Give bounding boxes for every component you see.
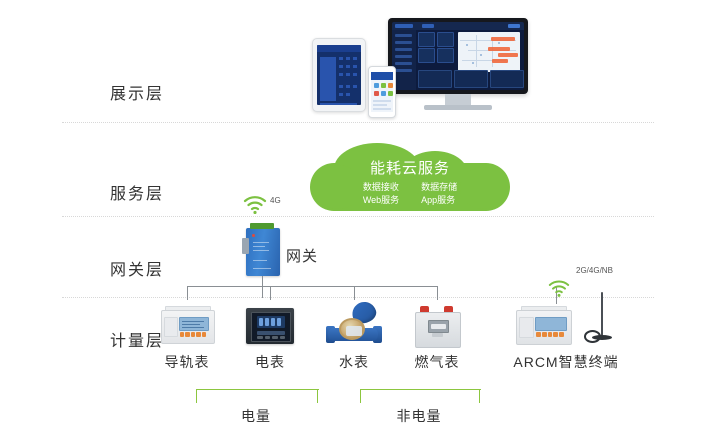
tablet-screen-header xyxy=(317,45,361,52)
meter-bus-wire xyxy=(187,286,437,287)
monitor-stand-neck xyxy=(445,94,471,105)
tablet-device xyxy=(312,38,366,112)
meter-branch-wire-3 xyxy=(354,286,355,300)
monitor-stand-base xyxy=(424,105,492,110)
cloud-feature-list: 数据接收 Web服务 数据存储 App服务 xyxy=(310,181,510,207)
layer-label-service: 服务层 xyxy=(110,180,164,204)
monitor-bezel xyxy=(388,18,528,94)
terminal-network-label: 2G/4G/NB xyxy=(576,266,613,275)
phone-screen xyxy=(371,72,393,112)
water-meter-icon xyxy=(326,304,382,346)
din-rail-meter-icon xyxy=(161,306,213,346)
tablet-screen xyxy=(317,45,361,105)
cloud-feature-group-left: 数据接收 Web服务 xyxy=(363,181,399,207)
layer-label-display: 展示层 xyxy=(110,80,164,104)
group-bracket-non-electricity xyxy=(360,390,480,403)
monitor-device xyxy=(388,18,528,110)
gateway-drop-wire xyxy=(262,276,263,298)
architecture-diagram: 展示层 服务层 网关层 计量层 xyxy=(0,0,715,443)
meter-label-gas: 燃气表 xyxy=(382,352,492,372)
meter-branch-wire-4 xyxy=(437,286,438,300)
display-layer-devices xyxy=(300,8,550,118)
group-label-electricity: 电量 xyxy=(196,406,316,426)
wifi-signal-icon xyxy=(243,196,267,214)
cloud-feature-app-service: App服务 xyxy=(421,194,457,207)
cloud-feature-web-service: Web服务 xyxy=(363,194,399,207)
cloud-feature-group-right: 数据存储 App服务 xyxy=(421,181,457,207)
cloud-feature-data-storage: 数据存储 xyxy=(421,181,457,194)
group-bracket-electricity xyxy=(196,390,318,403)
terminal-label-arcm: ARCM智慧终端 xyxy=(501,352,631,372)
meter-branch-wire-1 xyxy=(187,286,188,300)
layer-separator-display-service xyxy=(62,122,654,123)
phone-device xyxy=(368,66,396,118)
meter-item-gas xyxy=(382,306,492,350)
monitor-screen xyxy=(392,22,524,90)
dashboard-topbar xyxy=(392,22,524,30)
gateway-device xyxy=(246,228,280,276)
gateway-label: 网关 xyxy=(286,245,318,266)
gas-meter-icon xyxy=(415,306,459,346)
layer-label-gateway: 网关层 xyxy=(110,256,164,280)
dashboard-bottom-widgets xyxy=(418,70,520,86)
gateway-uplink-label: 4G xyxy=(270,196,281,205)
cloud-feature-data-receive: 数据接收 xyxy=(363,181,399,194)
group-label-non-electricity: 非电量 xyxy=(360,406,478,426)
cloud-service-node: 能耗云服务 数据接收 Web服务 数据存储 App服务 xyxy=(310,143,510,211)
arcm-terminal-device-icon xyxy=(516,306,570,346)
panel-electric-meter-icon xyxy=(246,306,294,346)
meter-branch-wire-2 xyxy=(270,286,271,300)
wifi-signal-icon xyxy=(548,280,570,297)
antenna-icon xyxy=(584,292,610,350)
layer-separator-service-gateway xyxy=(62,216,654,217)
dashboard-map-panel xyxy=(458,32,520,72)
cloud-title: 能耗云服务 xyxy=(310,157,510,178)
phone-app-header xyxy=(371,72,393,80)
